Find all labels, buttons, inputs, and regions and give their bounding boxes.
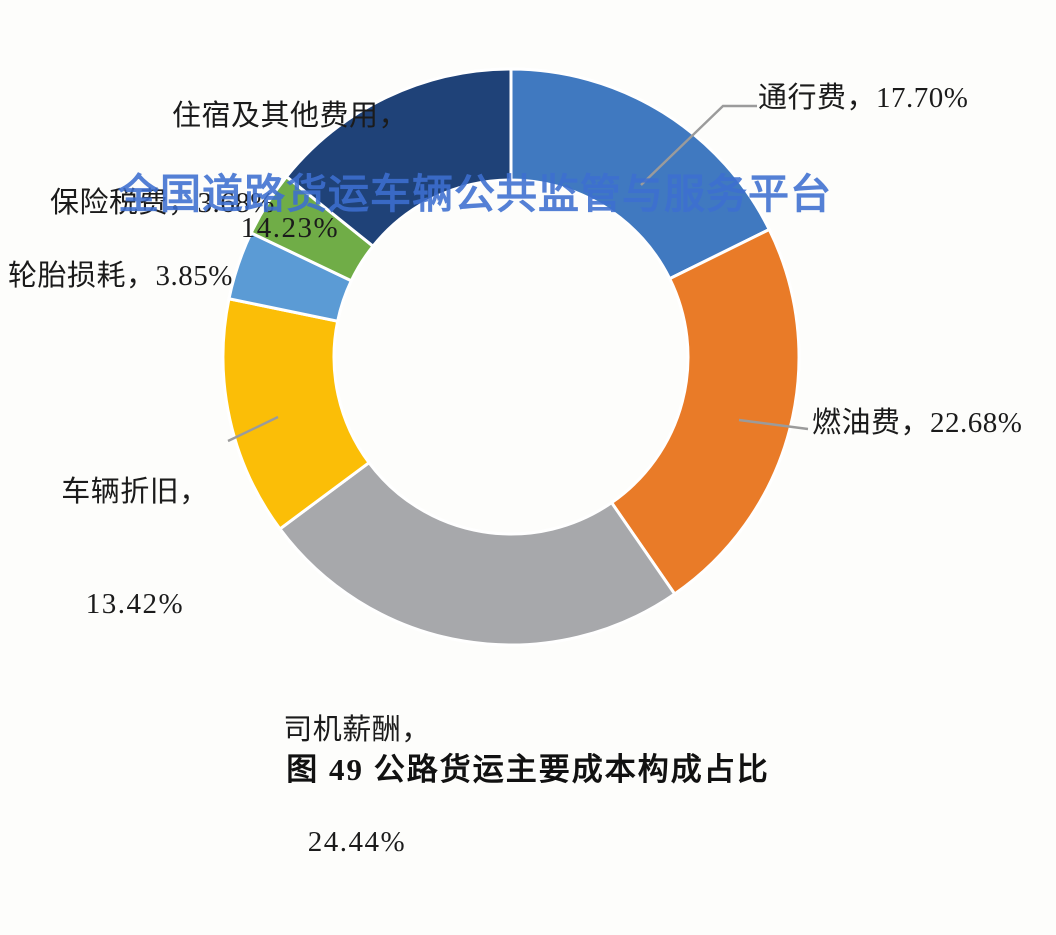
chart-canvas: 住宿及其他费用， 14.23% 保险税费，3.68% 轮胎损耗，3.85% 车辆… xyxy=(0,0,1056,806)
label-depreciation-line1: 车辆折旧， xyxy=(40,474,230,511)
label-depreciation: 车辆折旧， 13.42% xyxy=(40,400,230,697)
figure-caption: 图 49 公路货运主要成本构成占比 xyxy=(0,744,1056,789)
label-driver-line2: 24.44% xyxy=(262,824,452,861)
donut-slice xyxy=(612,229,799,593)
label-fuel: 燃油费，22.68% xyxy=(812,405,1022,442)
label-depreciation-line2: 13.42% xyxy=(40,586,230,623)
label-tire: 轮胎损耗，3.85% xyxy=(8,258,233,295)
label-toll: 通行费，17.70% xyxy=(758,80,968,117)
label-insurance: 保险税费，3.68% xyxy=(50,185,275,222)
label-lodging-line1: 住宿及其他费用， xyxy=(160,98,420,135)
donut-slice xyxy=(280,463,675,645)
